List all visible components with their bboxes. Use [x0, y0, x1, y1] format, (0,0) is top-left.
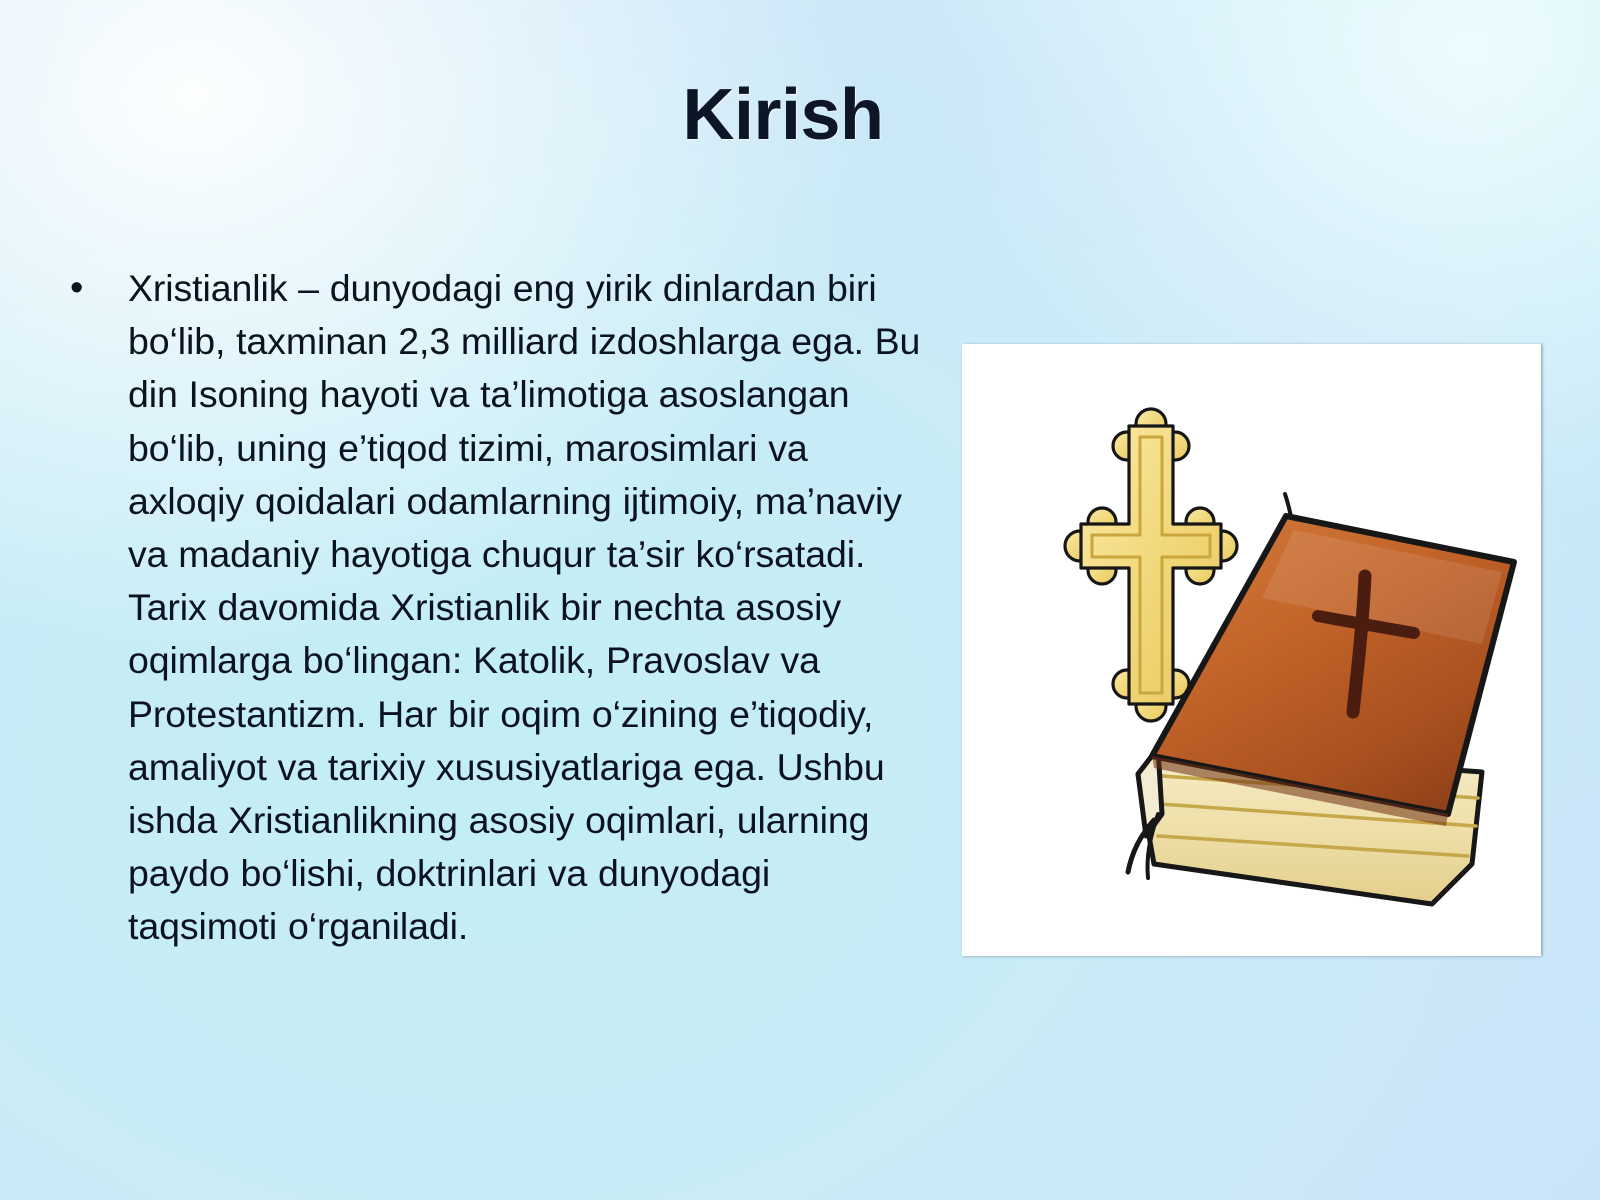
cross-and-bible-graphic	[962, 344, 1541, 956]
body-text-block: • Xristianlik – dunyodagi eng yirik dinl…	[62, 262, 922, 954]
bullet-paragraph-text: Xristianlik – dunyodagi eng yirik dinlar…	[128, 262, 922, 954]
bullet-point-icon: •	[62, 262, 128, 315]
illustration-image	[962, 344, 1541, 956]
page-title: Kirish	[0, 78, 1566, 154]
illustration-canvas	[962, 344, 1541, 956]
slide-canvas: Kirish • Xristianlik – dunyodagi eng yir…	[0, 0, 1600, 1200]
list-item: • Xristianlik – dunyodagi eng yirik dinl…	[62, 262, 922, 954]
